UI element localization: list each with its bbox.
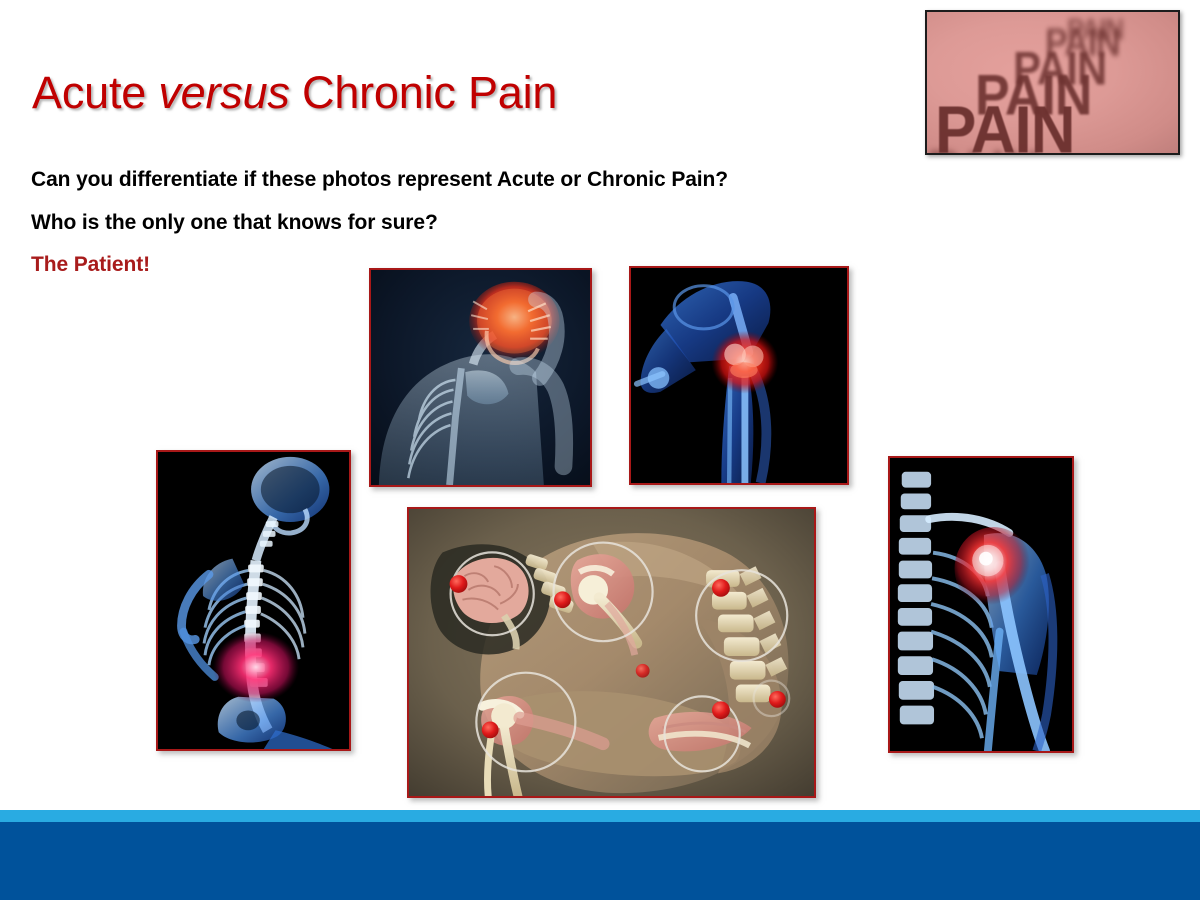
page-title: Acute versus Chronic Pain (32, 66, 557, 120)
body-followup-line: Who is the only one that knows for sure? (31, 211, 438, 235)
body-question-line: Can you differentiate if these photos re… (31, 168, 728, 192)
xray-spine-scene (158, 452, 349, 749)
title-segment-versus: versus (158, 67, 289, 118)
photo-xray-lower-back-pain (156, 450, 351, 751)
xray-shoulder-scene (890, 458, 1072, 751)
photo-xray-knee-pain (629, 266, 849, 485)
body-pain-scene (409, 509, 814, 796)
photo-fibromyalgia-pain-points (407, 507, 816, 798)
pain-word-6: PAIN (927, 143, 1039, 156)
pain-word-graphic: PAIN PAIN PAIN PAIN PAIN PAIN (925, 10, 1180, 155)
photo-xray-shoulder-pain (888, 456, 1074, 753)
xray-head-scene (371, 270, 590, 485)
title-segment-1: Acute (32, 67, 158, 118)
xray-knee-scene (631, 268, 847, 483)
footer-bar: BROWARD HEALTH® (0, 822, 1200, 900)
photo-xray-head-pain (369, 268, 592, 487)
slide: Acute versus Chronic Pain Can you differ… (0, 0, 1200, 900)
footer-accent-stripe (0, 810, 1200, 822)
title-segment-2: Chronic Pain (290, 67, 558, 118)
body-answer-line: The Patient! (31, 253, 150, 277)
